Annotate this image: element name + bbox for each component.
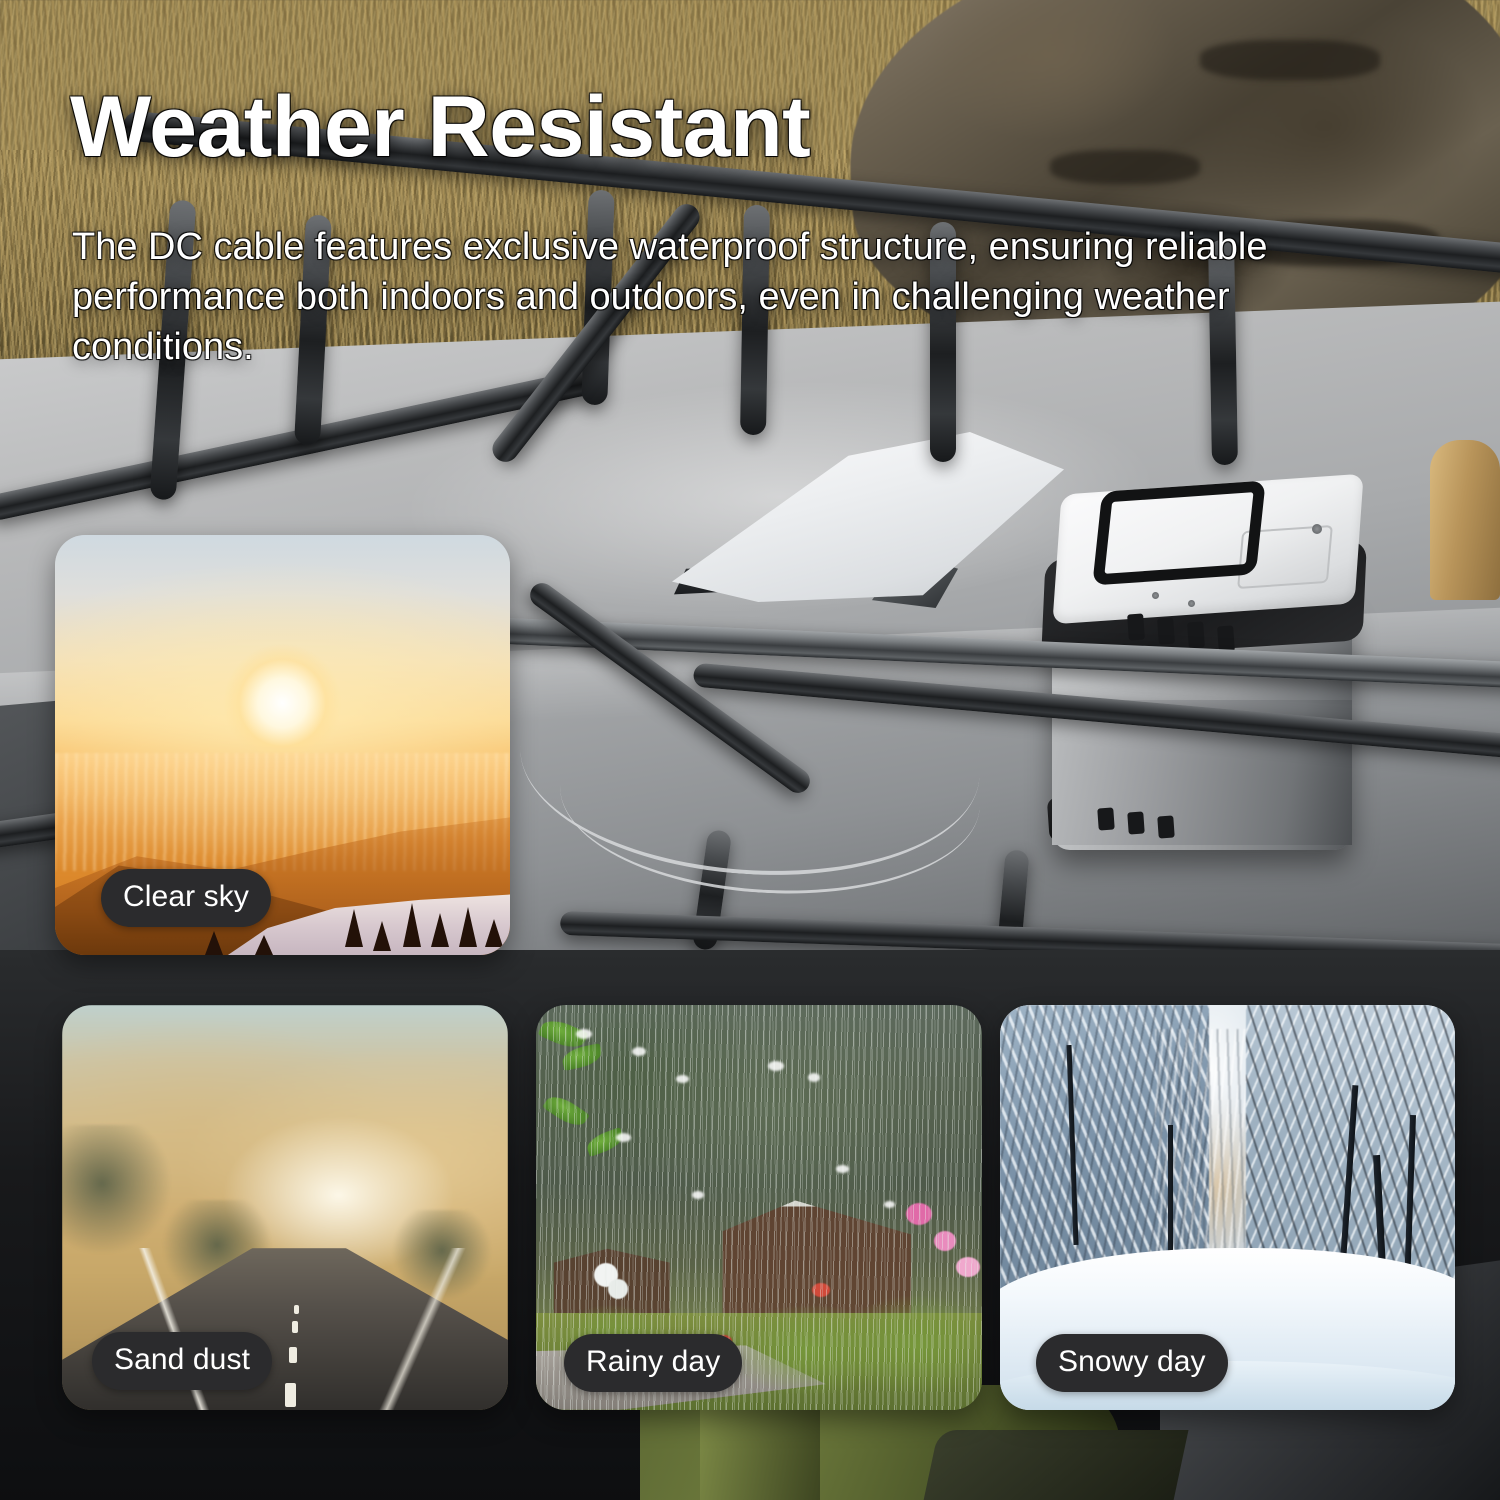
pine-tree — [205, 931, 223, 955]
rock-crack — [1200, 40, 1380, 80]
pine-tree — [373, 921, 391, 951]
pine-tree — [255, 935, 273, 955]
power-station-screw — [1312, 524, 1322, 534]
rock-crack — [1050, 150, 1200, 184]
weather-card-rainy-day[interactable]: Rainy day — [536, 1005, 982, 1410]
pine-tree — [431, 913, 449, 947]
power-station-base-ridge — [1097, 807, 1114, 830]
page-title: Weather Resistant — [70, 84, 810, 170]
pine-tree — [345, 909, 363, 947]
power-station-vent-ridge — [1187, 621, 1205, 648]
power-station-screw — [1152, 592, 1159, 599]
pine-tree — [459, 907, 477, 947]
rain-droplet — [576, 1029, 592, 1039]
rain-droplet — [768, 1061, 784, 1071]
power-station-handle — [1092, 480, 1266, 585]
golden-post — [1430, 440, 1500, 600]
rain-droplet — [808, 1073, 820, 1082]
rain-droplet — [884, 1201, 895, 1208]
power-station-base-ridge — [1127, 811, 1144, 834]
rain-droplet — [632, 1047, 646, 1056]
rain-droplet — [616, 1133, 631, 1142]
pine-tree — [403, 903, 421, 947]
road-lane-line-right — [321, 1248, 499, 1410]
road-dash — [285, 1383, 296, 1407]
weather-card-clear-sky[interactable]: Clear sky — [55, 535, 510, 955]
vehicle-olive-pillar — [700, 1400, 820, 1500]
power-station-vent-ridge — [1157, 617, 1175, 644]
road-dash — [292, 1321, 298, 1333]
rain-droplet — [692, 1191, 704, 1199]
rain-droplet — [676, 1075, 689, 1083]
road-dash — [294, 1305, 299, 1314]
weather-resistant-banner: Weather Resistant The DC cable features … — [0, 0, 1500, 1500]
road-dash — [289, 1347, 297, 1363]
tree — [62, 1125, 172, 1255]
weather-card-label: Clear sky — [101, 869, 271, 927]
weather-card-label: Snowy day — [1036, 1334, 1228, 1392]
vehicle-dark-panel — [921, 1430, 1188, 1500]
rain-droplet — [836, 1165, 849, 1173]
power-station-vent-ridge — [1127, 613, 1145, 640]
weather-card-sand-dust[interactable]: Sand dust — [62, 1005, 508, 1410]
weather-card-label: Rainy day — [564, 1334, 742, 1392]
power-station-base-ridge — [1157, 815, 1174, 838]
power-station-screw — [1188, 600, 1195, 607]
weather-card-snowy-day[interactable]: Snowy day — [1000, 1005, 1455, 1410]
weather-card-label: Sand dust — [92, 1332, 272, 1390]
pine-tree — [485, 919, 503, 947]
page-subtitle: The DC cable features exclusive waterpro… — [72, 222, 1362, 372]
